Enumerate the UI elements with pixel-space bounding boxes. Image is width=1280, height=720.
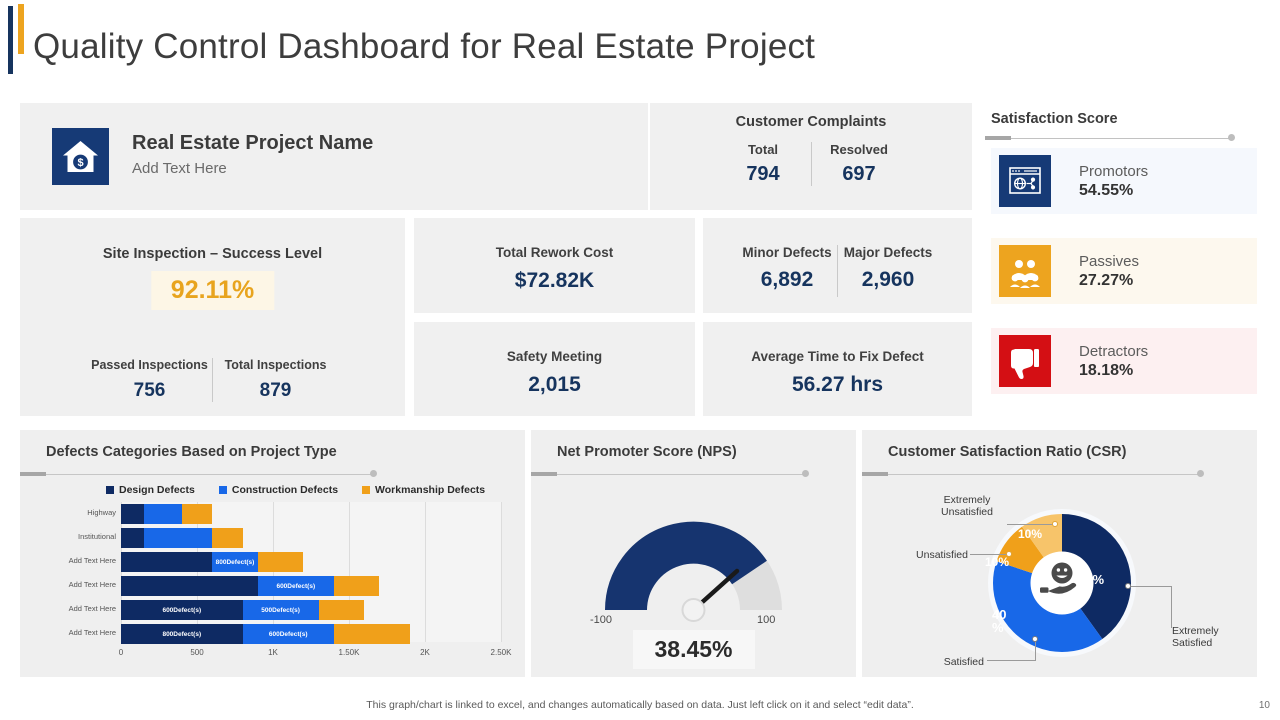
nps-chart-title: Net Promoter Score (NPS): [557, 444, 737, 460]
minor-defects-value: 6,892: [737, 268, 837, 292]
rule-line: [1011, 138, 1229, 139]
bar-segment-construction: 500Defect(s): [243, 600, 319, 620]
complaints-title: Customer Complaints: [650, 114, 972, 130]
legend-label: Workmanship Defects: [375, 484, 485, 496]
legend-item-workmanship: Workmanship Defects: [362, 484, 485, 496]
bar-segment-design: [121, 552, 212, 572]
x-tick: 2K: [405, 648, 445, 657]
site-inspection-title: Site Inspection – Success Level: [20, 246, 405, 262]
satisfaction-percent: 27.27%: [1079, 272, 1139, 290]
bar-segment-construction: 600Defect(s): [243, 624, 334, 644]
bar-label: 800Defect(s): [121, 624, 243, 644]
total-value: 879: [213, 380, 338, 402]
page-number: 10: [1259, 700, 1270, 711]
bar-label: 600Defect(s): [121, 600, 243, 620]
rework-value: $72.82K: [414, 269, 695, 293]
defects-chart-title: Defects Categories Based on Project Type: [46, 444, 337, 460]
category-label: Institutional: [40, 532, 116, 541]
bar-segment-workmanship: [258, 552, 304, 572]
rule-dot: [370, 470, 377, 477]
complaints-resolved-label: Resolved: [812, 142, 907, 157]
bar-label: 600Defect(s): [258, 576, 334, 596]
defects-count-card: Minor Defects 6,892 Major Defects 2,960: [703, 218, 972, 313]
x-tick: 1.50K: [329, 648, 369, 657]
browser-share-icon: [999, 155, 1051, 207]
avgtime-value: 56.27 hrs: [703, 373, 972, 397]
legend-swatch: [362, 486, 370, 494]
satisfaction-score-panel: Satisfaction Score Prom: [985, 103, 1257, 415]
rule-bar: [985, 136, 1011, 140]
customer-complaints-card: Customer Complaints Total 794 Resolved 6…: [650, 103, 972, 210]
complaints-resolved: Resolved 697: [812, 142, 907, 186]
x-tick: 0: [101, 648, 141, 657]
nps-value: 38.45%: [632, 630, 754, 669]
rule-bar: [862, 472, 888, 476]
bar-label: [182, 504, 212, 524]
legend-swatch: [219, 486, 227, 494]
major-defects-value: 2,960: [838, 268, 938, 292]
rework-label: Total Rework Cost: [414, 245, 695, 260]
satisfaction-text-passives: Passives 27.27%: [1079, 253, 1139, 290]
satisfaction-row-passives: Passives 27.27%: [991, 238, 1257, 304]
defects-bar-chart: Highway Institutional Add Text Here Add …: [20, 502, 525, 677]
leader-line: [1171, 586, 1172, 628]
legend-item-construction: Construction Defects: [219, 484, 338, 496]
safety-value: 2,015: [414, 373, 695, 397]
project-name: Real Estate Project Name: [132, 132, 373, 155]
leader-line: [987, 660, 1035, 661]
rule-line: [888, 474, 1198, 475]
bar-label: [121, 576, 258, 596]
gridline: [501, 502, 502, 642]
footer-note: This graph/chart is linked to excel, and…: [0, 699, 1280, 711]
satisfaction-name: Promotors: [1079, 163, 1148, 180]
rule-bar: [20, 472, 46, 476]
slice-percent-extremely-unsatisfied: 10%: [1018, 527, 1042, 541]
project-subtitle: Add Text Here: [132, 160, 227, 177]
page-title: Quality Control Dashboard for Real Estat…: [33, 27, 815, 67]
bar-segment-workmanship: [334, 624, 410, 644]
project-card: $ Real Estate Project Name Add Text Here: [20, 103, 648, 210]
category-label: Add Text Here: [40, 556, 116, 565]
total-label: Total Inspections: [213, 358, 338, 372]
legend-item-design: Design Defects: [106, 484, 195, 496]
leader-line: [1007, 524, 1055, 525]
table-row: 600Defect(s) 500Defect(s): [121, 600, 364, 620]
passed-inspections: Passed Inspections 756: [87, 358, 212, 402]
bar-segment-workmanship: [182, 504, 212, 524]
slice-percent-extremely-satisfied: 40%: [1078, 572, 1104, 587]
gridline: [273, 502, 274, 642]
slice-percent-satisfied: 40%: [992, 608, 1012, 634]
bar-segment-workmanship: [319, 600, 365, 620]
defects-rule: [20, 470, 525, 477]
leader-line: [1128, 586, 1172, 587]
rule-dot: [802, 470, 809, 477]
bar-segment-construction: 800Defect(s): [212, 552, 258, 572]
category-label: Add Text Here: [40, 628, 116, 637]
satisfaction-text-detractors: Detractors 18.18%: [1079, 343, 1148, 380]
satisfaction-name: Passives: [1079, 253, 1139, 270]
gridline: [349, 502, 350, 642]
bar-segment-design: [121, 504, 144, 524]
svg-text:$: $: [77, 157, 83, 169]
satisfaction-rule: [985, 134, 1257, 141]
legend-swatch: [106, 486, 114, 494]
satisfaction-row-promotors: Promotors 54.55%: [991, 148, 1257, 214]
bar-segment-construction: 600Defect(s): [258, 576, 334, 596]
slice-label-extremely-satisfied: Extremely Satisfied: [1172, 625, 1242, 649]
category-label: Add Text Here: [40, 604, 116, 613]
success-rate-badge: 92.11%: [151, 271, 274, 310]
bar-label: [334, 576, 380, 596]
bar-label: [121, 528, 144, 548]
page-header: Quality Control Dashboard for Real Estat…: [0, 0, 1280, 96]
slice-label-unsatisfied: Unsatisfied: [890, 549, 968, 561]
bar-label: [334, 624, 410, 644]
category-label: Highway: [40, 508, 116, 517]
total-inspections: Total Inspections 879: [213, 358, 338, 402]
satisfaction-percent: 18.18%: [1079, 362, 1148, 380]
avg-fix-time-card: Average Time to Fix Defect 56.27 hrs: [703, 322, 972, 416]
nps-rule: [531, 470, 856, 477]
complaints-total-value: 794: [716, 163, 811, 186]
satisfaction-title: Satisfaction Score: [991, 111, 1118, 127]
bar-segment-design: 600Defect(s): [121, 600, 243, 620]
avgtime-label: Average Time to Fix Defect: [703, 349, 972, 364]
bar-label: [121, 504, 144, 524]
site-inspection-card: Site Inspection – Success Level 92.11% P…: [20, 218, 405, 416]
site-inspection-values: Passed Inspections 756 Total Inspections…: [20, 358, 405, 402]
gridline: [425, 502, 426, 642]
bar-label: 600Defect(s): [243, 624, 334, 644]
leader-node: [1125, 583, 1131, 589]
defects-legend: Design Defects Construction Defects Work…: [106, 484, 485, 496]
bar-segment-construction: [144, 528, 212, 548]
slice-label-satisfied: Satisfied: [914, 656, 984, 668]
defects-categories-panel: Defects Categories Based on Project Type…: [20, 430, 525, 677]
bar-segment-design: [121, 528, 144, 548]
rework-cost-card: Total Rework Cost $72.82K: [414, 218, 695, 313]
thumbs-down-icon: [999, 335, 1051, 387]
accent-bar-orange: [18, 4, 24, 54]
house-dollar-icon: $: [52, 128, 109, 185]
leader-node: [1052, 521, 1058, 527]
satisfaction-percent: 54.55%: [1079, 182, 1148, 200]
x-tick: 2.50K: [481, 648, 521, 657]
rule-bar: [531, 472, 557, 476]
slice-label-extremely-unsatisfied: Extremely Unsatisfied: [927, 494, 1007, 518]
complaints-total: Total 794: [716, 142, 811, 186]
csr-chart-title: Customer Satisfaction Ratio (CSR): [888, 444, 1126, 460]
csr-panel: Customer Satisfaction Ratio (CSR): [862, 430, 1257, 677]
major-defects: Major Defects 2,960: [838, 245, 938, 297]
bar-segment-design: 800Defect(s): [121, 624, 243, 644]
table-row: 600Defect(s): [121, 576, 379, 596]
table-row: [121, 528, 243, 548]
bar-label: [319, 600, 365, 620]
x-tick: 500: [177, 648, 217, 657]
gauge-max-label: 100: [757, 614, 775, 626]
csr-donut: 40% 40% 10% 10% Extremely Unsatisfied Un…: [932, 488, 1192, 673]
bar-segment-construction: [144, 504, 182, 524]
bar-label: [144, 528, 212, 548]
x-tick: 1K: [253, 648, 293, 657]
bar-segment-workmanship: [212, 528, 242, 548]
rule-dot: [1228, 134, 1235, 141]
leader-line: [970, 554, 1008, 555]
bar-label: 800Defect(s): [212, 552, 258, 572]
bar-segment-design: [121, 576, 258, 596]
gauge-min-label: -100: [590, 614, 612, 626]
csr-rule: [862, 470, 1257, 477]
slice-percent-unsatisfied: 10%: [985, 555, 1009, 569]
minor-defects-label: Minor Defects: [737, 245, 837, 260]
passed-label: Passed Inspections: [87, 358, 212, 372]
leader-line: [1035, 640, 1036, 661]
table-row: 800Defect(s) 600Defect(s): [121, 624, 410, 644]
table-row: [121, 504, 212, 524]
bar-segment-workmanship: [334, 576, 380, 596]
bar-label: [212, 528, 242, 548]
safety-meeting-card: Safety Meeting 2,015: [414, 322, 695, 416]
legend-label: Design Defects: [119, 484, 195, 496]
leader-node: [1006, 551, 1012, 557]
bar-label: [258, 552, 304, 572]
bar-label: [121, 552, 212, 572]
satisfaction-text-promotors: Promotors 54.55%: [1079, 163, 1148, 200]
leader-node: [1032, 636, 1038, 642]
safety-label: Safety Meeting: [414, 349, 695, 364]
nps-panel: Net Promoter Score (NPS) -100 100 38.45%: [531, 430, 856, 677]
accent-bar-navy: [8, 6, 13, 74]
complaints-total-label: Total: [716, 142, 811, 157]
nps-gauge: -100 100: [531, 488, 856, 623]
rule-line: [557, 474, 803, 475]
complaints-values: Total 794 Resolved 697: [650, 142, 972, 186]
table-row: 800Defect(s): [121, 552, 303, 572]
satisfaction-row-detractors: Detractors 18.18%: [991, 328, 1257, 394]
rule-dot: [1197, 470, 1204, 477]
rule-line: [46, 474, 371, 475]
bar-label: 500Defect(s): [243, 600, 319, 620]
complaints-resolved-value: 697: [812, 163, 907, 186]
legend-label: Construction Defects: [232, 484, 338, 496]
passed-value: 756: [87, 380, 212, 402]
major-defects-label: Major Defects: [838, 245, 938, 260]
minor-defects: Minor Defects 6,892: [737, 245, 837, 297]
bar-label: [144, 504, 182, 524]
category-label: Add Text Here: [40, 580, 116, 589]
satisfaction-name: Detractors: [1079, 343, 1148, 360]
people-group-icon: [999, 245, 1051, 297]
